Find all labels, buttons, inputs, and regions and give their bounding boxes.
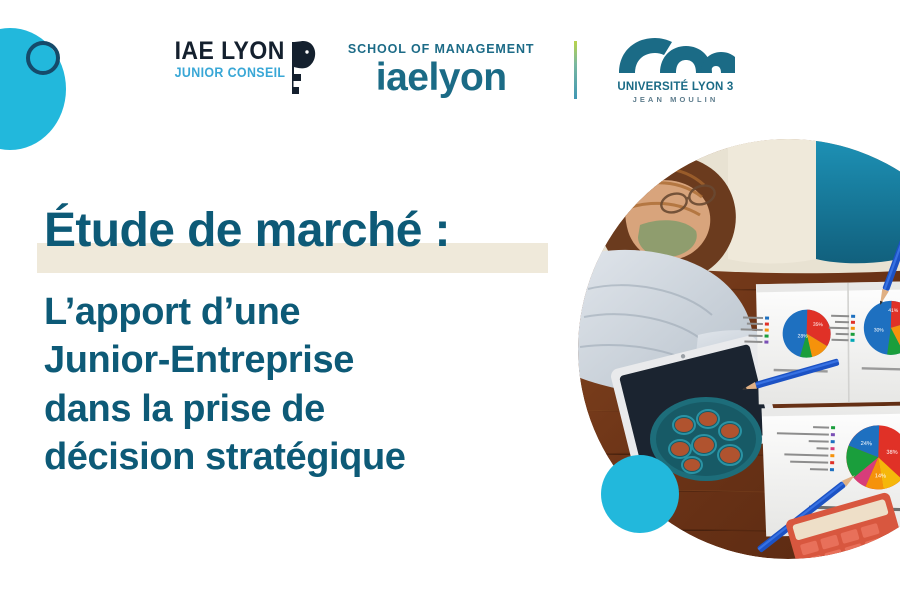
- logo-universite-lyon3-name: UNIVERSITÉ LYON 3: [617, 81, 733, 94]
- headline-subtitle-line-4: décision stratégique: [44, 433, 564, 481]
- headline-subtitle-line-3: dans la prise de: [44, 385, 564, 433]
- svg-text:28%: 28%: [797, 333, 808, 339]
- lion-head-icon: [290, 40, 318, 101]
- logo-iaelyon-supertitle: SCHOOL OF MANAGEMENT: [348, 43, 535, 57]
- logo-iae-lyon-junior-conseil[interactable]: IAE LYON JUNIOR CONSEIL: [165, 39, 318, 101]
- svg-text:24%: 24%: [861, 441, 872, 447]
- logo-separator-divider: [574, 41, 577, 99]
- headline-subtitle-line-2: Junior-Entreprise: [44, 336, 564, 384]
- headline-subtitle-line-1: L’apport d’une: [44, 288, 564, 336]
- logo-iaelyon[interactable]: SCHOOL OF MANAGEMENT iaelyon: [348, 43, 535, 97]
- poster-canvas: IAE LYON JUNIOR CONSEIL SCHOOL OF MANAGE…: [0, 0, 900, 600]
- svg-text:14%: 14%: [875, 473, 886, 479]
- logo-universite-lyon3-sub: JEAN MOULIN: [633, 95, 719, 105]
- logo-bar: IAE LYON JUNIOR CONSEIL SCHOOL OF MANAGE…: [0, 34, 900, 106]
- arches-icon: [615, 35, 735, 78]
- svg-text:38%: 38%: [886, 450, 897, 456]
- headline-subtitle: L’apport d’une Junior-Entreprise dans la…: [44, 288, 564, 481]
- headline-main-wrapper: Étude de marché :: [44, 206, 564, 268]
- logo-universite-lyon3[interactable]: UNIVERSITÉ LYON 3 JEAN MOULIN: [615, 35, 735, 105]
- svg-text:35%: 35%: [813, 322, 824, 328]
- svg-text:30%: 30%: [874, 327, 885, 333]
- page-title: Étude de marché :: [44, 206, 564, 256]
- svg-text:41%: 41%: [888, 308, 899, 314]
- logo-iae-sub-label: JUNIOR CONSEIL: [174, 65, 285, 82]
- logo-iae-text-block: IAE LYON JUNIOR CONSEIL: [165, 39, 285, 81]
- decor-cyan-circle-bottom: [601, 455, 679, 533]
- headline-block: Étude de marché : L’apport d’une Junior-…: [44, 206, 564, 481]
- logo-iaelyon-wordmark: iaelyon: [376, 58, 507, 97]
- logo-iae-main-label: IAE LYON: [175, 39, 285, 65]
